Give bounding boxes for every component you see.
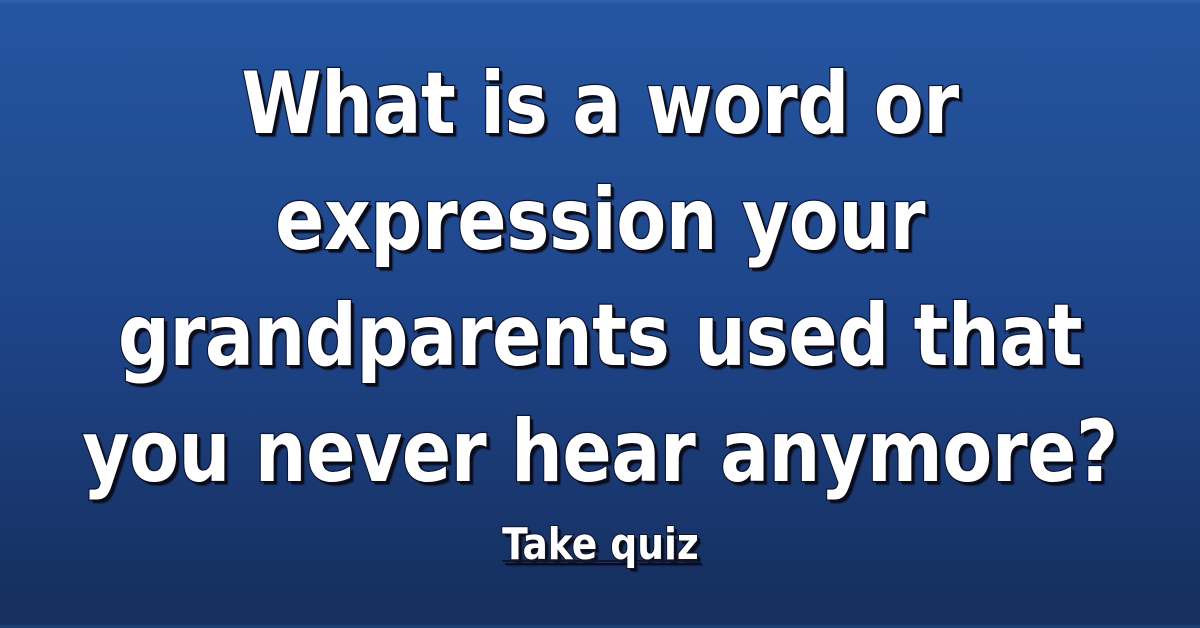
card-content: What is a word or expression your grandp…: [0, 0, 1200, 628]
take-quiz-link[interactable]: Take quiz: [502, 520, 699, 570]
quiz-promo-card: What is a word or expression your grandp…: [0, 0, 1200, 628]
page-title: What is a word or expression your grandp…: [69, 46, 1131, 510]
cta-container: Take quiz: [35, 520, 1165, 570]
